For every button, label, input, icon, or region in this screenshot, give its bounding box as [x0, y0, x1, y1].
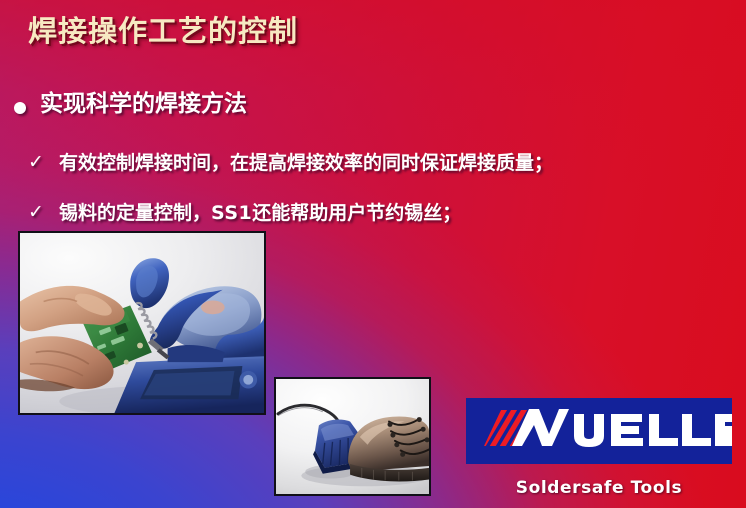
photo-pedal-inner	[276, 379, 429, 494]
check-bullet-icon: ✓	[28, 153, 46, 172]
bullet-check-2-text-before: 锡料的定量控制，	[59, 202, 211, 224]
bullet-item-check-1: ✓ 有效控制焊接时间，在提高焊接效率的同时保证焊接质量；	[28, 153, 553, 174]
bullet-check-2-emphasis: SS1	[211, 202, 252, 224]
logo-tagline: Soldersafe Tools	[466, 478, 732, 498]
logo-registered-mark-icon	[725, 440, 731, 446]
photo-pedal-artwork	[276, 379, 429, 494]
bullet-check-1-label: 有效控制焊接时间，在提高焊接效率的同时保证焊接质量；	[59, 153, 553, 174]
soldering-hands-pcb-photo	[18, 231, 266, 415]
bullet-primary-label: 实现科学的焊接方法	[40, 92, 247, 117]
slide-canvas: 焊接操作工艺的控制 实现科学的焊接方法 ✓ 有效控制焊接时间，在提高焊接效率的同…	[0, 0, 746, 508]
photo-main-inner	[20, 233, 264, 413]
bullet-item-check-2: ✓ 锡料的定量控制，SS1还能帮助用户节约锡丝；	[28, 203, 461, 224]
foot-pedal-boot-photo	[274, 377, 431, 496]
slide-title: 焊接操作工艺的控制	[28, 8, 298, 50]
disc-bullet-icon	[14, 102, 26, 114]
logo-e-glyph	[611, 414, 643, 446]
mueller-logo-artwork	[466, 398, 732, 464]
bullet-item-primary: 实现科学的焊接方法	[14, 92, 247, 117]
check-bullet-icon: ✓	[28, 203, 46, 222]
bullet-check-2-text-after: 还能帮助用户节约锡丝；	[252, 202, 461, 224]
mueller-logo	[466, 398, 732, 464]
bullet-check-2-label: 锡料的定量控制，SS1还能帮助用户节约锡丝；	[59, 203, 461, 224]
photo-main-artwork	[20, 233, 264, 413]
